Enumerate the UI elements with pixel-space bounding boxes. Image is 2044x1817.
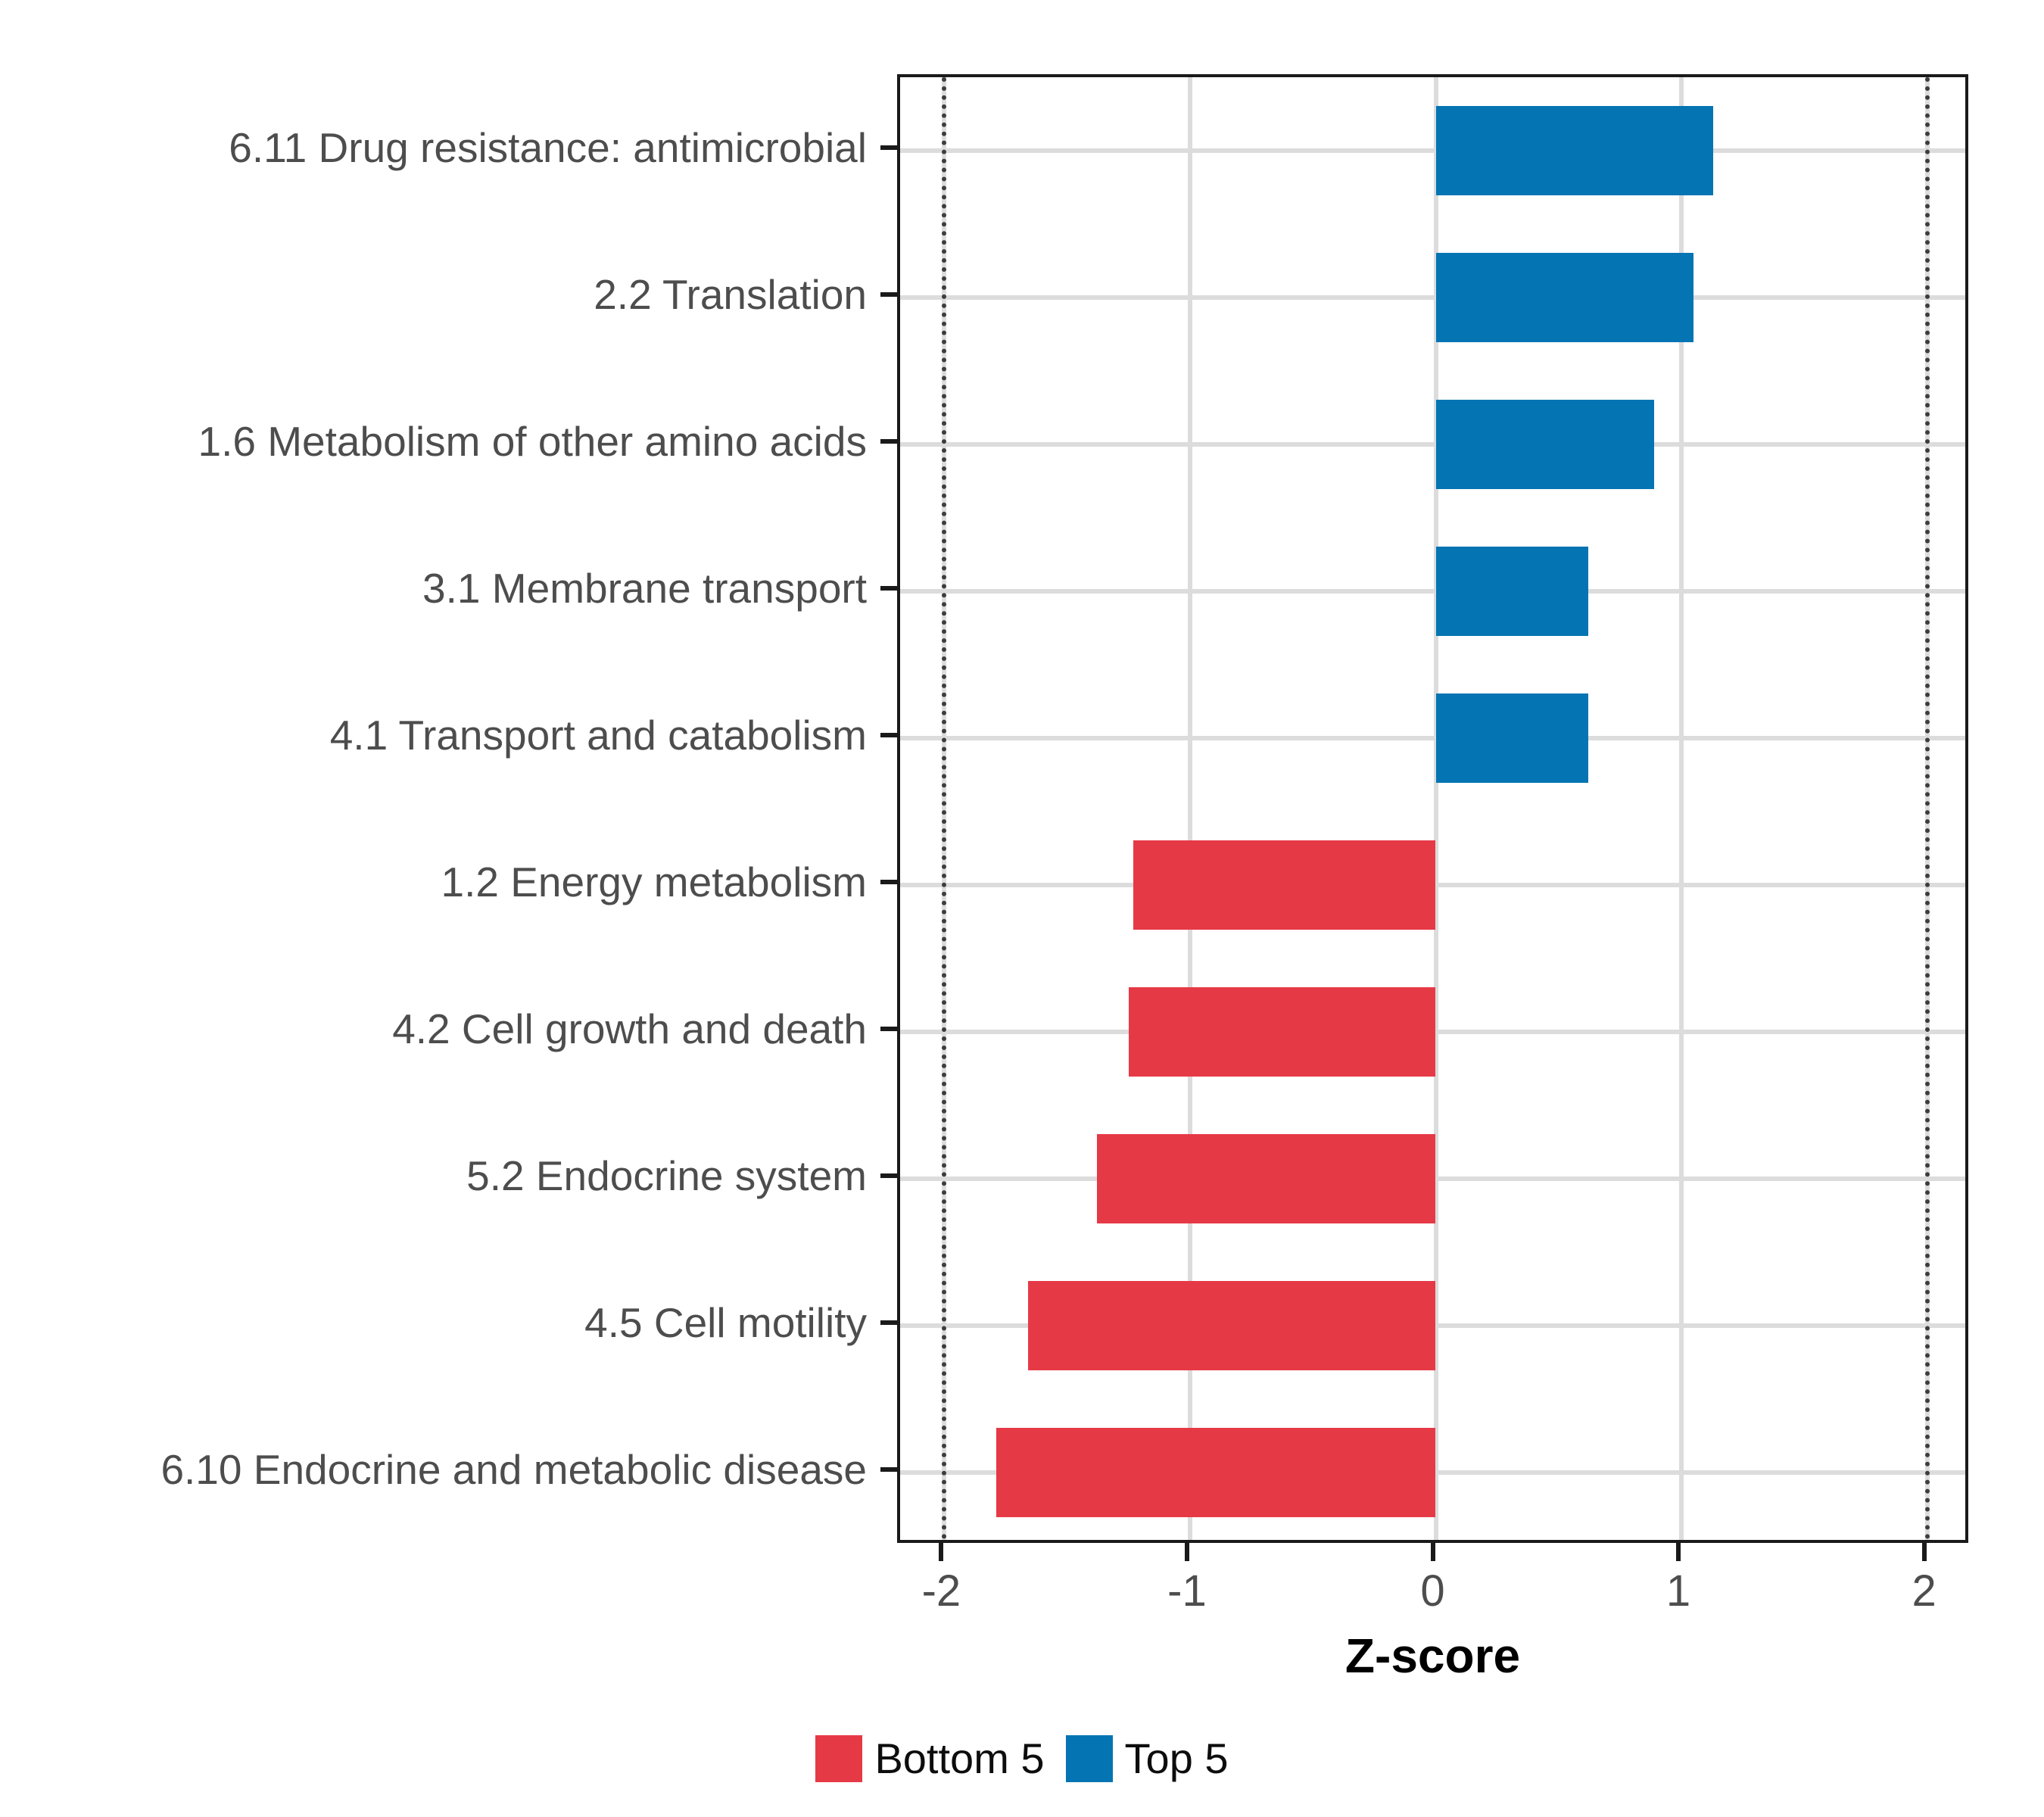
legend-item[interactable]: Top 5 (1066, 1734, 1229, 1783)
bar (1436, 400, 1655, 489)
x-axis-tick (1431, 1543, 1435, 1561)
bar (1028, 1281, 1436, 1370)
y-axis-tick (880, 733, 897, 737)
x-axis-tick-label: 0 (1420, 1566, 1444, 1616)
x-axis-tick (939, 1543, 943, 1561)
y-axis-tick-label: 4.1 Transport and catabolism (330, 711, 867, 759)
gridline-horizontal (900, 295, 1965, 300)
x-axis-tick-label: 2 (1912, 1566, 1936, 1616)
y-axis-tick-label: 1.6 Metabolism of other amino acids (198, 417, 868, 466)
reference-line (942, 77, 946, 1540)
y-axis-tick (880, 292, 897, 297)
y-axis-tick (880, 1027, 897, 1031)
y-axis-tick-label: 2.2 Translation (594, 270, 867, 319)
bar (1436, 693, 1588, 783)
y-axis-tick (880, 880, 897, 884)
bar (1133, 840, 1435, 930)
y-axis-tick (880, 1467, 897, 1472)
y-axis-tick-label: 4.5 Cell motility (584, 1298, 867, 1347)
bar (1436, 106, 1714, 195)
y-axis-tick-label: 5.2 Endocrine system (466, 1152, 867, 1200)
gridline-horizontal (900, 589, 1965, 594)
x-axis-title: Z-score (897, 1628, 1968, 1684)
gridline-horizontal (900, 148, 1965, 153)
gridline-horizontal (900, 442, 1965, 447)
x-axis-tick (1676, 1543, 1681, 1561)
legend-label: Top 5 (1125, 1734, 1229, 1783)
x-axis-tick-label: -2 (922, 1566, 961, 1616)
y-axis-tick (880, 1173, 897, 1178)
y-axis-tick (880, 145, 897, 150)
y-axis-tick-label: 3.1 Membrane transport (422, 564, 867, 612)
y-axis-tick-label: 6.10 Endocrine and metabolic disease (160, 1445, 867, 1494)
y-axis-tick (880, 1320, 897, 1325)
legend-item[interactable]: Bottom 5 (815, 1734, 1044, 1783)
reference-line (1925, 77, 1930, 1540)
plot-panel (897, 74, 1968, 1543)
legend-swatch (1066, 1735, 1113, 1782)
x-axis-tick-label: -1 (1167, 1566, 1207, 1616)
x-axis-tick (1922, 1543, 1927, 1561)
y-axis-tick-label: 6.11 Drug resistance: antimicrobial (229, 123, 867, 172)
y-axis-tick (880, 439, 897, 444)
x-axis-tick-label: 1 (1666, 1566, 1690, 1616)
chart-legend: Bottom 5Top 5 (0, 1734, 2044, 1783)
x-axis-tick (1185, 1543, 1189, 1561)
gridline-horizontal (900, 736, 1965, 740)
bar (1436, 253, 1694, 342)
chart-root: 6.11 Drug resistance: antimicrobial2.2 T… (0, 0, 2044, 1817)
bar (1097, 1134, 1436, 1223)
legend-swatch (815, 1735, 862, 1782)
y-axis-tick-label: 4.2 Cell growth and death (392, 1005, 867, 1053)
y-axis-labels: 6.11 Drug resistance: antimicrobial2.2 T… (0, 74, 897, 1543)
bar (996, 1428, 1436, 1517)
bar (1436, 547, 1588, 636)
bar (1129, 987, 1436, 1077)
legend-label: Bottom 5 (874, 1734, 1044, 1783)
y-axis-tick (880, 586, 897, 591)
y-axis-tick-label: 1.2 Energy metabolism (441, 858, 868, 906)
